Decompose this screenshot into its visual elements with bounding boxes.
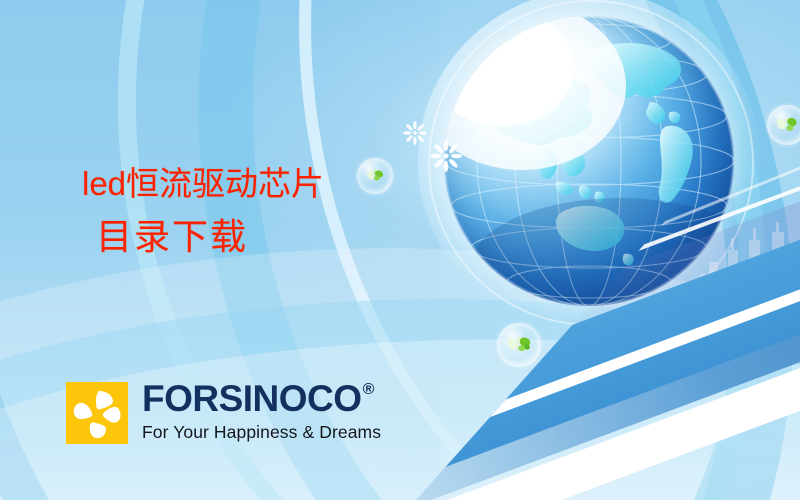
brand-name-text: FORSINOCO bbox=[142, 380, 362, 417]
starburst-large-icon bbox=[430, 140, 462, 172]
bubble-eco-right bbox=[767, 105, 800, 145]
brand-tagline: For Your Happiness & Dreams bbox=[142, 422, 381, 443]
headline-line-2: 目录下载 bbox=[96, 217, 324, 257]
starburst-small-icon bbox=[403, 121, 427, 145]
forsinoco-pinwheel-icon bbox=[66, 382, 128, 444]
headline-line-1: led恒流驱动芯片 bbox=[82, 166, 324, 203]
leaf-sprout-icon bbox=[768, 106, 800, 144]
bubble-eco-left bbox=[357, 158, 393, 194]
brand-wordmark-group: FORSINOCO ® For Your Happiness & Dreams bbox=[142, 380, 381, 443]
registered-trademark-icon: ® bbox=[363, 382, 374, 398]
banner-canvas: led恒流驱动芯片 目录下载 FORSINOCO ® For Your Happ… bbox=[0, 0, 800, 500]
brand-logo: FORSINOCO ® For Your Happiness & Dreams bbox=[66, 382, 381, 444]
leaf-sprout-icon bbox=[498, 324, 540, 366]
leaf-sprout-icon bbox=[358, 159, 392, 193]
brand-wordmark: FORSINOCO ® bbox=[142, 380, 381, 417]
bubble-eco-center bbox=[497, 323, 541, 367]
headline-block: led恒流驱动芯片 目录下载 bbox=[82, 166, 324, 257]
